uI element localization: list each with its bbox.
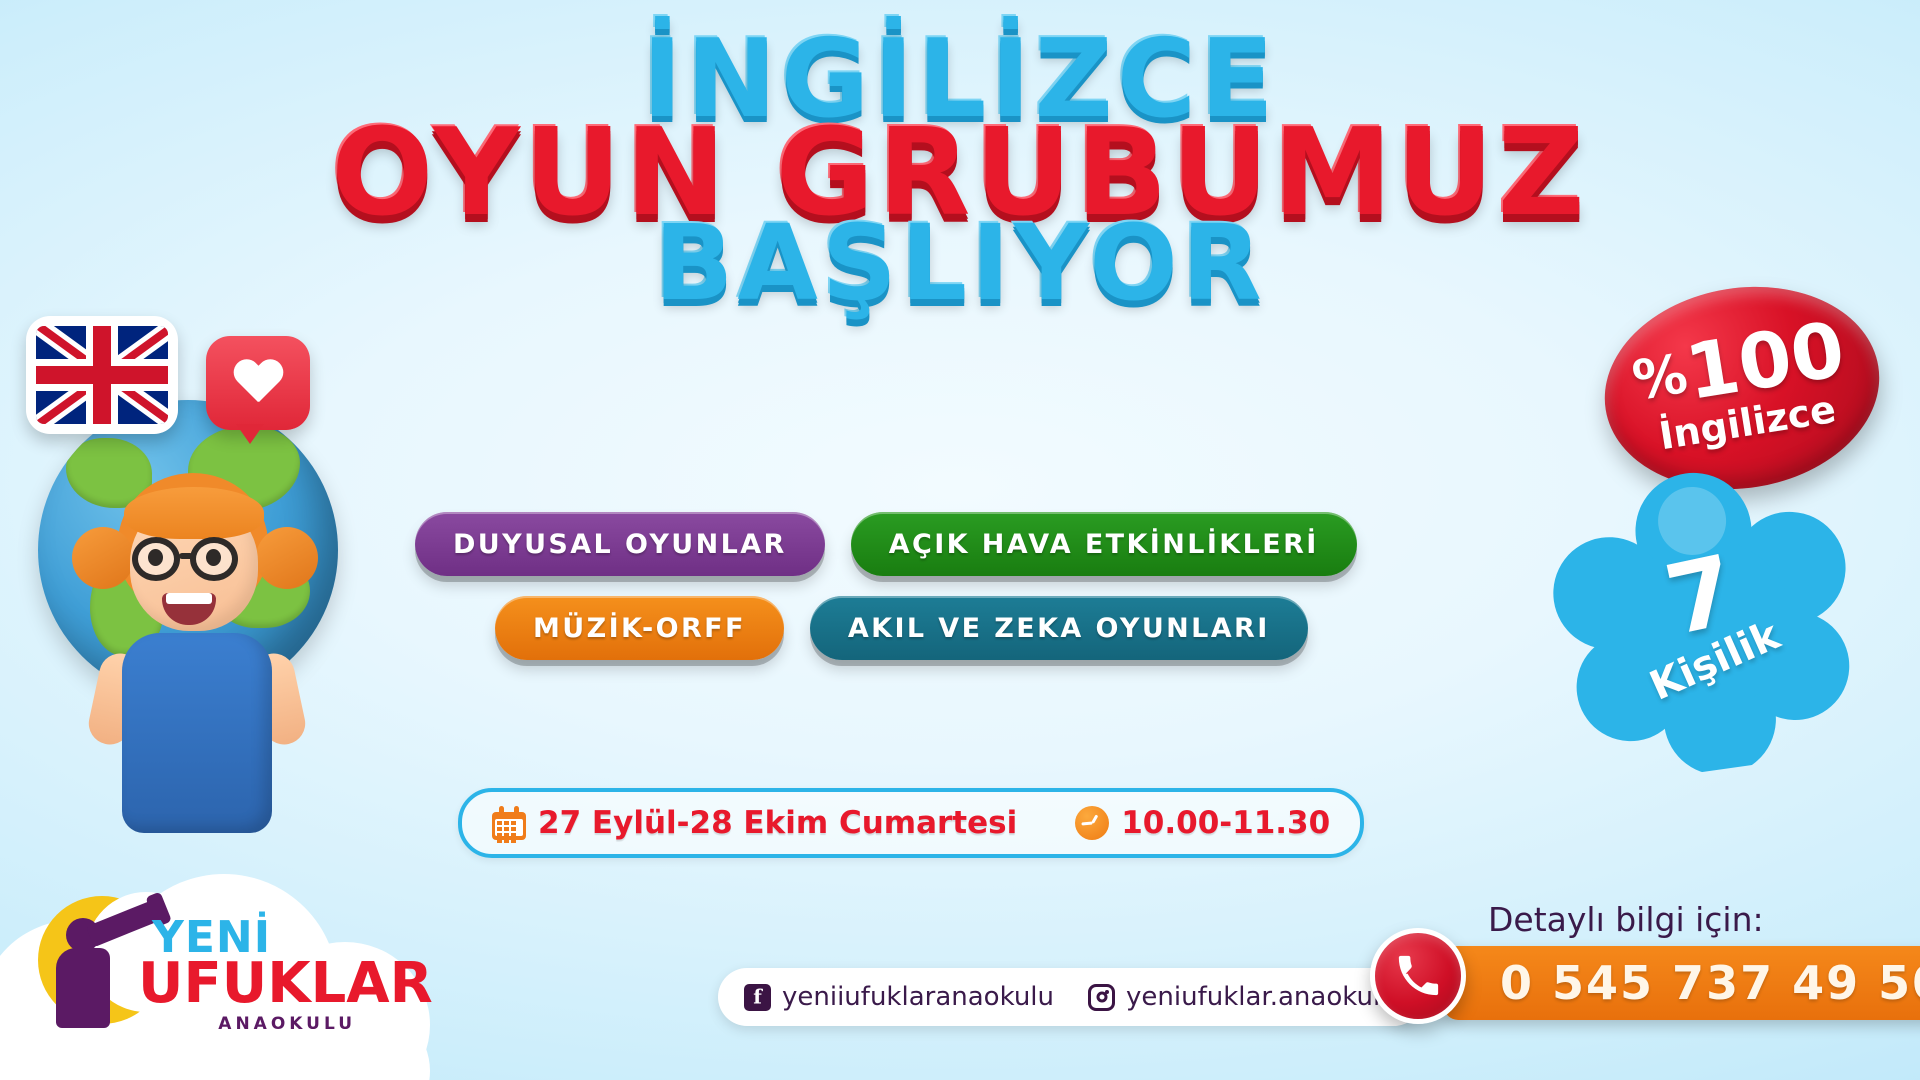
schedule-time: 10.00-11.30 [1121, 805, 1330, 841]
promo-poster: İNGİLİZCE OYUN GRUBUMUZ BAŞLIYOR [0, 0, 1920, 1080]
instagram-handle: yeniufuklar.anaokulu [1126, 982, 1397, 1012]
child-character [80, 465, 310, 885]
logo-line-anaokulu: ANAOKULU [152, 1014, 356, 1034]
percent-symbol: % [1628, 342, 1691, 413]
capacity-badge: 7 Kişilik [1537, 451, 1876, 790]
pill-akil-ve-zeka-oyunlari[interactable]: AKIL VE ZEKA OYUNLARI [810, 596, 1308, 660]
contact-label: Detaylı bilgi için: [1488, 900, 1764, 939]
schedule-bar: 27 Eylül-28 Ekim Cumartesi 10.00-11.30 [458, 788, 1364, 858]
facebook-handle-item[interactable]: yeniiufuklaranaokulu [744, 982, 1054, 1012]
pill-muzik-orff[interactable]: MÜZİK-ORFF [495, 596, 784, 660]
headline: İNGİLİZCE OYUN GRUBUMUZ BAŞLIYOR [0, 30, 1920, 311]
glasses-icon [130, 537, 258, 583]
phone-glyph-icon [1395, 953, 1441, 999]
schedule-date: 27 Eylül-28 Ekim Cumartesi [538, 805, 1017, 841]
calendar-icon [492, 806, 526, 840]
contact-block: Detaylı bilgi için: 0 545 737 49 50 [1370, 900, 1910, 1040]
phone-icon[interactable] [1370, 928, 1466, 1024]
brand-logo[interactable]: YENİ UFUKLAR ANAOKULU [32, 888, 362, 1058]
date-item: 27 Eylül-28 Ekim Cumartesi [492, 805, 1017, 841]
phone-number: 0 545 737 49 50 [1500, 956, 1920, 1010]
logo-line-ufuklar: UFUKLAR [138, 956, 362, 1012]
facebook-handle: yeniiufuklaranaokulu [782, 982, 1054, 1012]
child-globe-illustration [10, 330, 430, 890]
time-item: 10.00-11.30 [1075, 805, 1330, 841]
instagram-icon[interactable] [1088, 984, 1115, 1011]
heart-icon [233, 360, 283, 406]
phone-number-pill[interactable]: 0 545 737 49 50 [1444, 946, 1920, 1020]
instagram-handle-item[interactable]: yeniufuklar.anaokulu [1088, 982, 1397, 1012]
logo-text: YENİ UFUKLAR ANAOKULU [152, 916, 362, 1034]
category-pill-grid: DUYUSAL OYUNLAR AÇIK HAVA ETKİNLİKLERİ M… [415, 512, 1515, 680]
clock-icon [1075, 806, 1109, 840]
heart-speech-bubble [206, 336, 310, 430]
pill-duyusal-oyunlar[interactable]: DUYUSAL OYUNLAR [415, 512, 825, 576]
pill-acik-hava-etkinlikleri[interactable]: AÇIK HAVA ETKİNLİKLERİ [851, 512, 1357, 576]
social-bar: yeniiufuklaranaokulu yeniufuklar.anaokul… [718, 968, 1423, 1026]
facebook-icon[interactable] [744, 984, 771, 1011]
uk-flag-speech-bubble [26, 316, 178, 434]
uk-flag-icon [36, 326, 168, 424]
headline-line-3: BAŞLIYOR [0, 216, 1920, 312]
